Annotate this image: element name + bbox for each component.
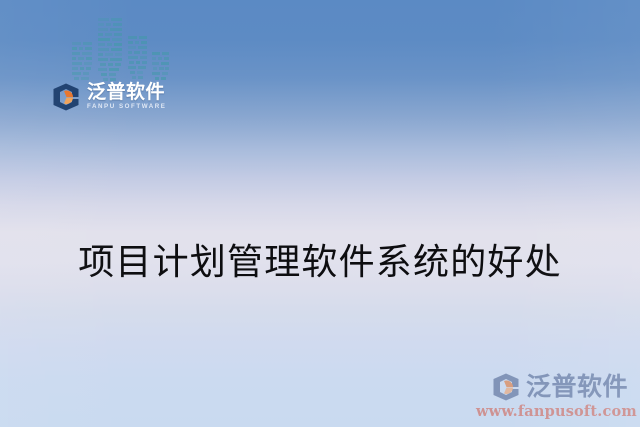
cityscape-block bbox=[164, 57, 169, 60]
cityscape-block bbox=[128, 56, 138, 59]
cityscape-block bbox=[98, 33, 103, 36]
cityscape-block bbox=[72, 47, 77, 50]
cityscape-block bbox=[86, 67, 91, 70]
fanpu-logo-icon bbox=[491, 372, 521, 402]
cityscape-block bbox=[79, 47, 83, 50]
cityscape-block bbox=[110, 28, 122, 31]
cityscape-block bbox=[111, 18, 122, 21]
cityscape-block bbox=[72, 67, 78, 70]
watermark-logo-row: 泛普软件 bbox=[476, 372, 628, 402]
watermark-url: www.fanpusoft.com bbox=[476, 405, 628, 420]
cityscape-block bbox=[138, 76, 143, 79]
cityscape-block bbox=[83, 42, 92, 45]
cityscape-block bbox=[162, 52, 169, 55]
watermark: 泛普软件 www.fanpusoft.com bbox=[476, 372, 628, 420]
cityscape-block bbox=[98, 28, 108, 31]
cityscape-block bbox=[81, 77, 89, 80]
cityscape-block bbox=[128, 51, 132, 54]
cityscape-block bbox=[152, 57, 156, 60]
watermark-name-cn: 泛普软件 bbox=[526, 374, 628, 399]
cityscape-block bbox=[158, 57, 162, 60]
cityscape-block bbox=[132, 76, 136, 79]
cityscape-block bbox=[165, 67, 169, 70]
cityscape-block bbox=[105, 53, 113, 56]
cityscape-block bbox=[98, 38, 110, 41]
cityscape-block bbox=[153, 67, 157, 70]
brand-logo-name-cn: 泛普软件 bbox=[87, 83, 166, 102]
cityscape-block bbox=[155, 77, 159, 80]
cityscape-block bbox=[159, 67, 164, 70]
cityscape-block bbox=[140, 56, 147, 59]
cityscape-block bbox=[152, 72, 160, 75]
page-title: 项目计划管理软件系统的好处 bbox=[0, 240, 640, 286]
brand-logo-name-en: FANPU SOFTWARE bbox=[87, 104, 166, 110]
cityscape-block bbox=[74, 77, 79, 80]
brand-logo: 泛普软件 FANPU SOFTWARE bbox=[51, 82, 166, 112]
cityscape-block bbox=[100, 63, 106, 66]
cityscape-block bbox=[161, 62, 169, 65]
cityscape-block bbox=[80, 67, 84, 70]
cityscape-block bbox=[142, 51, 147, 54]
cityscape-block bbox=[98, 43, 105, 46]
cityscape-block bbox=[78, 57, 84, 60]
cityscape-block bbox=[72, 52, 80, 55]
cityscape-block bbox=[105, 33, 112, 36]
cityscape-block bbox=[152, 62, 159, 65]
cityscape-block bbox=[106, 23, 111, 26]
cityscape-block bbox=[114, 33, 122, 36]
cityscape-block bbox=[108, 63, 113, 66]
cityscape-block bbox=[113, 23, 122, 26]
cityscape-block bbox=[162, 72, 168, 75]
slide-canvas: 泛普软件 FANPU SOFTWARE 项目计划管理软件系统的好处 泛普软件 w… bbox=[0, 0, 640, 427]
cityscape-block bbox=[84, 62, 92, 65]
cityscape-block bbox=[137, 71, 143, 74]
cityscape-block bbox=[107, 43, 112, 46]
brand-logo-wordmark: 泛普软件 FANPU SOFTWARE bbox=[87, 83, 166, 110]
cityscape-block bbox=[115, 63, 121, 66]
cityscape-block bbox=[138, 66, 146, 69]
cityscape-block bbox=[141, 41, 147, 44]
cityscape-block bbox=[72, 57, 76, 60]
cityscape-block bbox=[129, 61, 134, 64]
cityscape-block bbox=[98, 48, 109, 51]
cityscape-block bbox=[98, 58, 108, 61]
cityscape-block bbox=[98, 68, 107, 71]
cityscape-block bbox=[86, 57, 92, 60]
cityscape-block bbox=[110, 58, 122, 61]
cityscape-block bbox=[109, 73, 116, 76]
cityscape-block bbox=[115, 53, 122, 56]
cityscape-block bbox=[111, 48, 122, 51]
cityscape-block bbox=[83, 72, 89, 75]
cityscape-block bbox=[152, 52, 160, 55]
cityscape-block bbox=[139, 36, 147, 39]
cityscape-block bbox=[101, 73, 107, 76]
cityscape-block bbox=[98, 23, 104, 26]
cityscape-block bbox=[128, 36, 137, 39]
cityscape-block bbox=[130, 71, 135, 74]
cityscape-block bbox=[114, 43, 122, 46]
cityscape-block bbox=[72, 42, 81, 45]
cityscape-block bbox=[109, 68, 119, 71]
cityscape-block bbox=[98, 53, 103, 56]
pixel-cityscape-icon bbox=[72, 16, 172, 82]
cityscape-block bbox=[135, 41, 139, 44]
fanpu-logo-icon bbox=[51, 82, 81, 112]
cityscape-block bbox=[128, 46, 136, 49]
cityscape-block bbox=[136, 61, 140, 64]
cityscape-block bbox=[112, 38, 122, 41]
cityscape-block bbox=[142, 61, 147, 64]
cityscape-block bbox=[128, 66, 136, 69]
cityscape-block bbox=[82, 52, 92, 55]
cityscape-block bbox=[134, 51, 140, 54]
cityscape-block bbox=[72, 62, 82, 65]
cityscape-block bbox=[128, 41, 133, 44]
cityscape-block bbox=[161, 77, 166, 80]
cityscape-block bbox=[72, 72, 81, 75]
cityscape-block bbox=[98, 18, 109, 21]
cityscape-block bbox=[138, 46, 147, 49]
cityscape-block bbox=[85, 47, 92, 50]
